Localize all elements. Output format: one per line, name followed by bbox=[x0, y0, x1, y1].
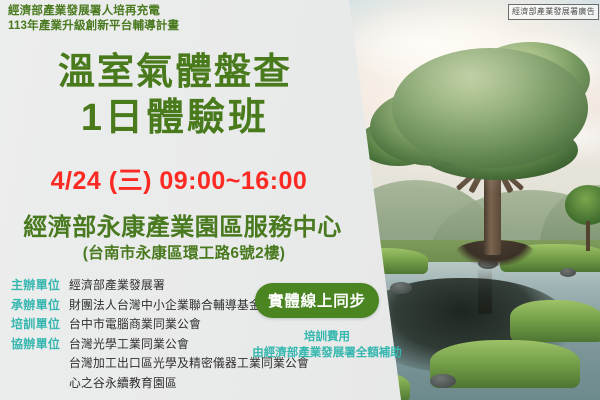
event-address: (台南市永康區環工路6號2樓) bbox=[0, 241, 368, 263]
organizer-value: 經濟部產業發展署 bbox=[69, 276, 165, 293]
kicker-line-1: 經濟部產業發展署人培再充電 bbox=[8, 4, 179, 19]
list-item: 心之谷永續教育園區 bbox=[11, 374, 309, 394]
title-line-1: 溫室氣體盤查 bbox=[0, 48, 350, 95]
organizer-label: 培訓單位 bbox=[11, 315, 69, 332]
funding-line-2: 由經濟部產業發展署全額補助 bbox=[252, 346, 402, 362]
event-datetime: 4/24 (三) 09:00~16:00 bbox=[0, 161, 358, 197]
title-line-2: 1日體驗班 bbox=[0, 95, 350, 142]
tree-canopy bbox=[392, 48, 588, 168]
page-title: 溫室氣體盤查 1日體驗班 bbox=[0, 48, 350, 142]
poster-content: 經濟部產業發展署人培再充電 113年產業升級創新平台輔導計畫 溫室氣體盤查 1日… bbox=[0, 0, 410, 400]
organizer-label: 主辦單位 bbox=[11, 276, 69, 293]
program-kicker: 經濟部產業發展署人培再充電 113年產業升級創新平台輔導計畫 bbox=[8, 4, 179, 33]
advertisement-tag: 經濟部產業發展署廣告 bbox=[508, 4, 599, 20]
status-badge: 實體線上同步 bbox=[255, 283, 379, 318]
poster: 經濟部產業發展署人培再充電 113年產業升級創新平台輔導計畫 溫室氣體盤查 1日… bbox=[0, 0, 600, 400]
event-venue: 經濟部永康產業園區服務中心 bbox=[0, 207, 365, 242]
kicker-line-2: 113年產業升級創新平台輔導計畫 bbox=[8, 19, 179, 34]
grass-patch bbox=[510, 300, 600, 342]
organizer-value: 心之谷永續教育園區 bbox=[69, 374, 177, 391]
organizer-value: 財團法人台灣中小企業聯合輔導基金會 bbox=[69, 296, 273, 313]
rock bbox=[430, 374, 456, 388]
funding-note: 培訓費用 由經濟部產業發展署全額補助 bbox=[252, 330, 402, 361]
organizer-label: 協辦單位 bbox=[11, 335, 69, 352]
organizer-value: 台灣光學工業同業公會 bbox=[69, 335, 189, 352]
organizer-value: 台中市電腦商業同業公會 bbox=[69, 315, 201, 332]
funding-line-1: 培訓費用 bbox=[252, 330, 402, 346]
rock bbox=[560, 268, 576, 277]
organizer-label: 承辦單位 bbox=[11, 296, 69, 313]
